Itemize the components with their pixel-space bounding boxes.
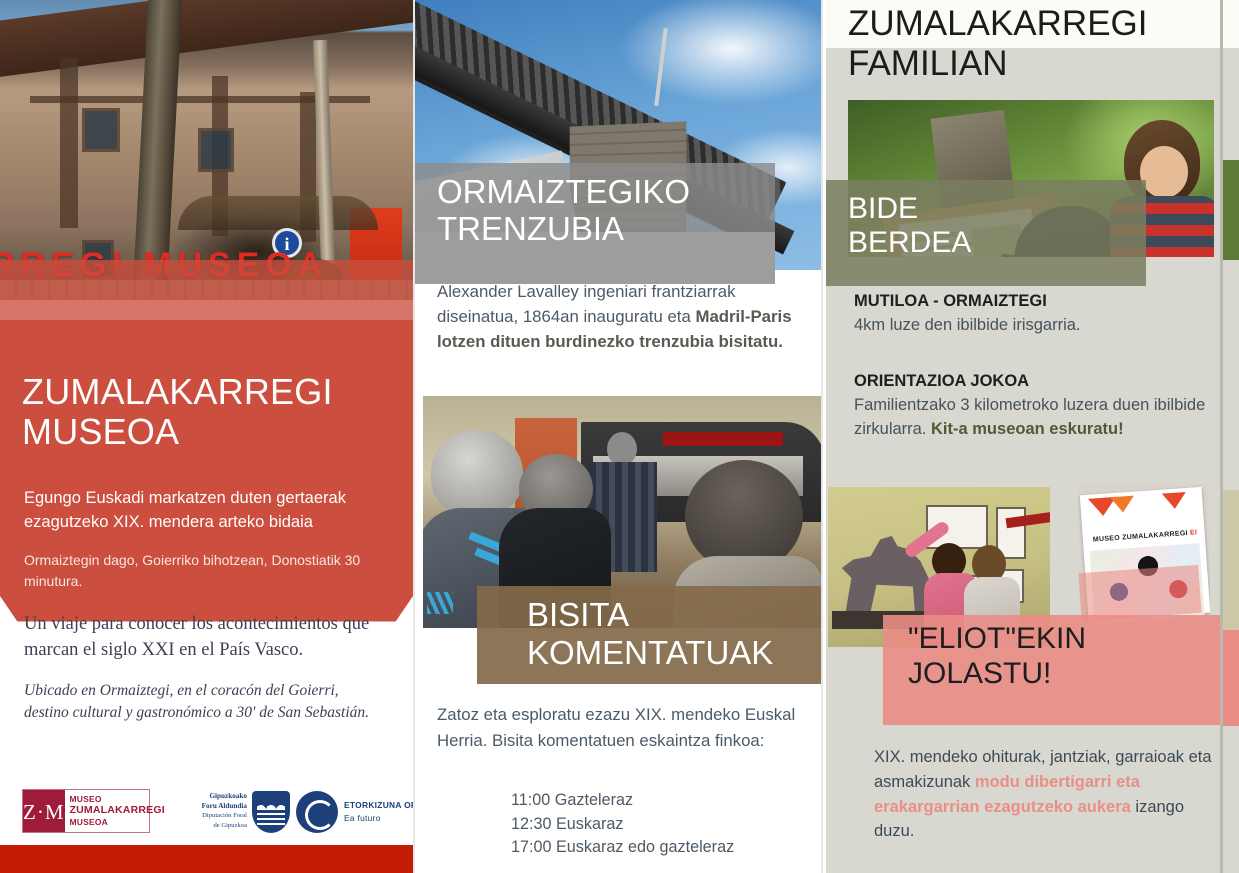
zumalakarregi-museum-logo[interactable]: Z·M MUSEO ZUMALAKARREGI MUSEOA [22,789,150,833]
sponsor-logos: Z·M MUSEO ZUMALAKARREGI MUSEOA Gipuzkoak… [22,789,402,835]
left-panel-lead-es: Un viaje para conocer los acontecimiento… [24,612,400,664]
bridge-mast [654,28,667,106]
gipuzkoa-logo-text[interactable]: Gipuzkoako Foru Aldundia Diputación Fora… [185,791,247,831]
left-panel-sub-eu: Ormaiztegin dago, Goierriko bihotzean, D… [24,550,392,591]
middle-body-normal: Alexander Lavalley ingeniari frantziarra… [437,282,736,326]
right-heading-mutiloa: MUTILOA - ORMAIZTEGI [854,291,1047,312]
zm-line-1: MUSEO [70,794,165,804]
schedule-item: 17:00 Euskaraz edo gazteleraz [511,836,821,860]
window-1 [82,108,120,152]
page-edge-strip[interactable] [1220,0,1239,873]
zm-line-2: ZUMALAKARREGI [70,804,165,817]
gip-line-1: Gipuzkoako [185,791,247,801]
child-face [1140,146,1188,198]
visitor-1-head [431,430,523,516]
left-column: i RREGI MUSEOA ZUMALAKARREGI MUSEOA Egun… [0,0,413,873]
entrance-canopy [178,196,378,230]
family-brochure-photo: MUSEO ZUMALAKARREGI EN FAMILIA! [1078,483,1210,629]
etork-line-2: Ea futuro [344,812,413,825]
brochure-title-main: ZUMALAKARREGI [1122,530,1188,542]
right-heading-orientazioa: ORIENTAZIOA JOKOA [854,371,1029,392]
right-para2-bold: Kit-a museoan eskuratu! [931,420,1124,438]
etorkizuna-logo-text[interactable]: ETORKIZUNA ORAIN Ea futuro [344,799,413,824]
middle-panel-title: ORMAIZTEGIKO TRENZUBIA [437,174,767,248]
zm-monogram: Z·M [23,790,65,832]
left-panel-sub-es: Ubicado en Ormaiztegi, en el coracón del… [24,680,384,725]
right-paragraph-3: XIX. mendeko ohiturak, jantziak, garraio… [874,745,1214,844]
left-bottom-red-bar [0,845,413,873]
left-panel-title: ZUMALAKARREGI MUSEOA [22,372,382,453]
schedule-item: 11:00 Gazteleraz [511,789,821,813]
zm-logo-text: MUSEO ZUMALAKARREGI MUSEOA [65,790,165,832]
gip-line-3: Diputación Foral [185,811,247,820]
guide-head [607,432,637,466]
brochure-triangle-3 [1162,492,1187,510]
strip-border [1220,0,1223,873]
right-panel-title: ZUMALAKARREGI FAMILIAN [848,4,1198,84]
zm-line-3: MUSEOA [70,817,165,827]
etork-line-1: ETORKIZUNA ORAIN [344,799,413,812]
right-paragraph-2: Familientzako 3 kilometroko luzera duen … [854,394,1206,442]
poster-page: i RREGI MUSEOA ZUMALAKARREGI MUSEOA Egun… [0,0,1239,873]
red-overlay-tint [0,260,413,325]
window-2 [198,128,234,172]
middle-column: ORMAIZTEGIKO TRENZUBIA Alexander Lavalle… [415,0,821,873]
brochure-title-prefix: MUSEO [1093,535,1123,544]
visit-schedule-list: 11:00 Gazteleraz 12:30 Euskaraz 17:00 Eu… [511,789,821,860]
sportswear-logo-icon [427,592,453,614]
brochure-title-suffix: EN FAMILIA! [1188,529,1198,537]
right-subtitle-eliot: "ELIOT"EKIN JOLASTU! [908,622,1208,692]
museum-facade-photo: i RREGI MUSEOA [0,0,413,300]
column-separator-2 [821,0,823,873]
gip-line-4: de Gipuzkoa [185,821,247,830]
etorkizuna-g-icon [296,791,338,833]
right-paragraph-1: 4km luze den ibilbide irisgarria. [854,314,1204,338]
left-panel-lead-eu: Egungo Euskadi markatzen duten gertaerak… [24,487,392,535]
right-subtitle-bide-berdea: BIDE BERDEA [848,192,1118,260]
brochure-pink-overlay [1078,565,1201,621]
gipuzkoa-shield-icon [252,791,290,833]
gip-line-2: Foru Aldundia [185,801,247,811]
exhibit-red-label [663,432,783,446]
middle-panel-body: Alexander Lavalley ingeniari frantziarra… [437,279,809,355]
middle-panel-body-2: Zatoz eta esploratu ezazu XIX. mendeko E… [437,702,809,753]
beam-2 [60,58,78,228]
schedule-item: 12:30 Euskaraz [511,813,821,837]
right-column: ZUMALAKARREGI FAMILIAN [826,0,1220,873]
brochure-triangle-2 [1110,496,1135,514]
middle-panel-title-2: BISITA KOMENTATUAK [527,596,821,673]
